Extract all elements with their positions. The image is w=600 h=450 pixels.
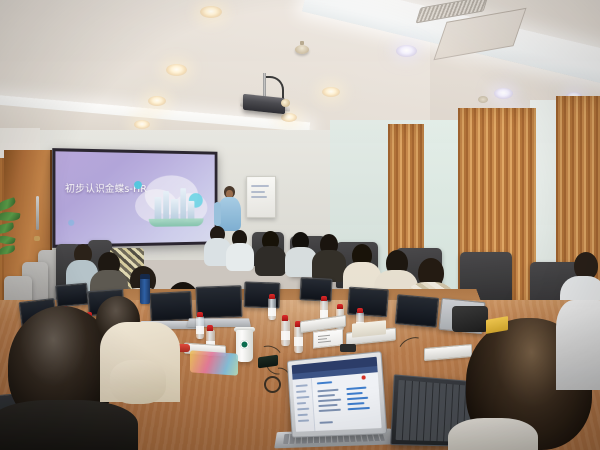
bottle-cap — [269, 294, 275, 299]
foreground-attendee-body-left — [0, 400, 138, 450]
bottle-cap — [207, 325, 213, 331]
bottle-cap — [282, 315, 288, 321]
laptop-lid[interactable] — [149, 291, 192, 322]
potted-plant — [0, 196, 22, 256]
blue-thermos[interactable] — [140, 278, 150, 304]
colorful-mousepad — [190, 350, 238, 375]
presenter-arm — [214, 202, 221, 226]
foreground-attendee-shoulder-right — [448, 418, 538, 450]
city-illustration — [149, 183, 204, 229]
presenter-body — [218, 197, 241, 231]
bottle-cap — [197, 312, 203, 317]
downlight-icon — [281, 113, 297, 122]
water-bottle[interactable] — [196, 316, 204, 339]
foreground-laptop[interactable] — [287, 351, 387, 438]
blue-thermos-lid — [140, 274, 150, 279]
attendee-body — [255, 246, 286, 276]
downlight-icon — [200, 6, 222, 18]
downlight-icon — [148, 96, 166, 106]
downlight-icon — [134, 120, 150, 129]
door-lock-icon — [34, 236, 40, 241]
laptop-lid[interactable] — [347, 287, 389, 318]
accent-dot-faint — [68, 220, 74, 226]
downlight-icon — [166, 64, 187, 76]
bottle-cap — [337, 304, 343, 309]
whiteboard-flipchart — [246, 176, 276, 218]
water-bottle[interactable] — [281, 320, 290, 346]
laptop-lid[interactable] — [55, 283, 89, 308]
bottle-label — [281, 331, 290, 340]
laptop-lid[interactable] — [299, 277, 332, 302]
app-red-badge — [361, 375, 365, 379]
app-sidebar[interactable] — [293, 378, 316, 432]
bottle-cap — [321, 296, 327, 301]
conference-room-photo: 初步认识金蝶s-HR — [0, 0, 600, 450]
bottle-label — [268, 308, 276, 316]
bottle-label — [294, 337, 303, 346]
downlight-icon — [396, 45, 417, 57]
projection-screen-surface: 初步认识金蝶s-HR — [55, 151, 214, 244]
projection-screen: 初步认识金蝶s-HR — [52, 148, 217, 248]
downlight-icon — [322, 87, 340, 97]
bottle-cap — [357, 308, 363, 313]
laptop-lid[interactable] — [395, 294, 439, 328]
door-handle-icon[interactable] — [36, 196, 39, 230]
accent-dot-cyan-small — [134, 181, 142, 189]
foreground-laptop-screen[interactable] — [292, 357, 382, 432]
smoke-detector-icon — [295, 45, 309, 54]
attendee-body — [226, 243, 254, 271]
table-name-card — [313, 328, 343, 348]
bag — [452, 306, 488, 332]
smoke-detector-secondary-icon — [478, 96, 488, 103]
projector-lens-icon — [281, 99, 290, 107]
bottle-label — [196, 326, 204, 334]
tape-dispenser — [340, 344, 356, 352]
foreground-attendee-right-edge-body — [556, 300, 600, 390]
water-bottle[interactable] — [268, 298, 276, 320]
downlight-icon — [494, 88, 513, 99]
cable-loop — [264, 376, 281, 393]
foreground-attendee-arm — [110, 360, 166, 404]
starbucks-logo-icon — [240, 340, 249, 349]
